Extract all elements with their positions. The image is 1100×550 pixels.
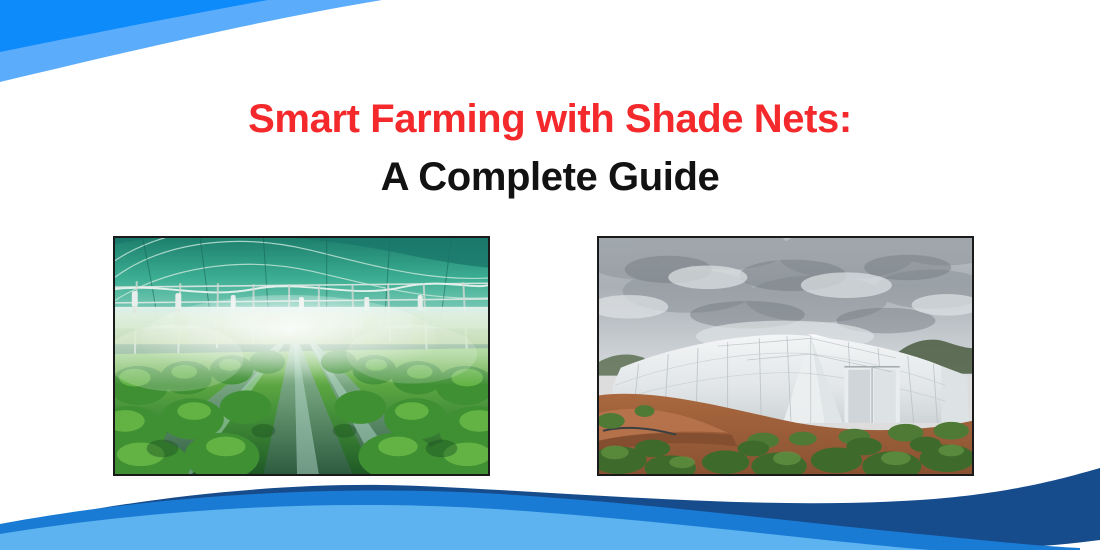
greenhouse-interior-illustration (115, 238, 488, 474)
image-white-net-house-exterior (597, 236, 974, 476)
bottom-wave-navy-band (0, 468, 1100, 550)
bottom-wave-medium-band (0, 491, 1080, 550)
top-wave-light-band (0, 0, 382, 82)
bottom-wave-light-band (0, 505, 930, 550)
top-wave-dark-band (0, 0, 268, 52)
page-title: Smart Farming with Shade Nets: A Complet… (0, 92, 1100, 204)
title-line-primary: Smart Farming with Shade Nets: (0, 92, 1100, 146)
image-greenhouse-interior-shade-net (113, 236, 490, 476)
banner-canvas: Smart Farming with Shade Nets: A Complet… (0, 0, 1100, 550)
title-line-secondary: A Complete Guide (0, 150, 1100, 204)
net-house-exterior-illustration (599, 238, 972, 474)
